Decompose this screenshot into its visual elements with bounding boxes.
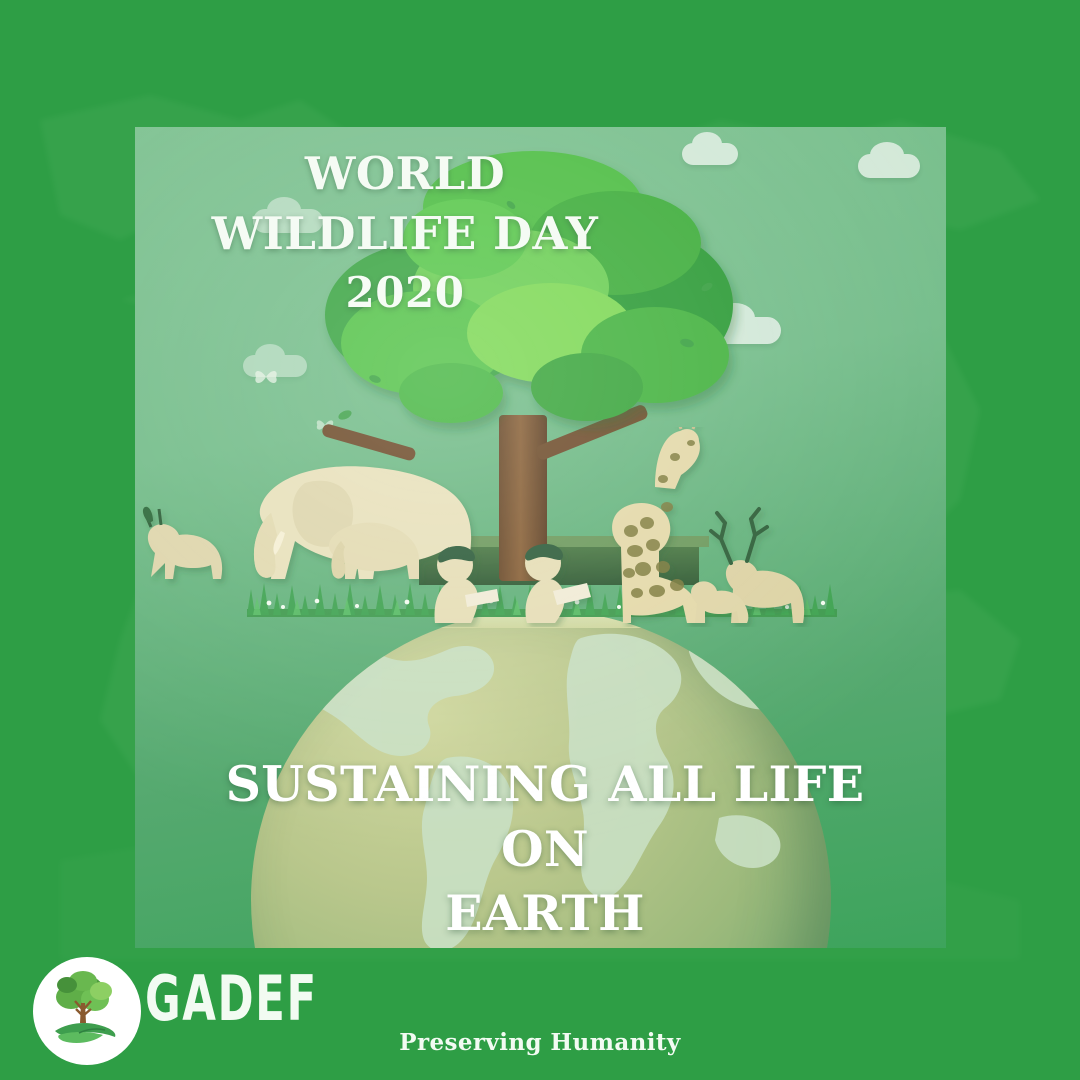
cloud-icon: [858, 154, 920, 178]
animals-layer: [135, 427, 946, 627]
poster-canvas: WORLD WILDLIFE DAY 2020 SUSTAINING ALL L…: [0, 0, 1080, 1080]
giraffe: [612, 427, 701, 623]
headline-line-1: WORLD: [155, 144, 655, 204]
headline-line-2: WILDLIFE DAY: [155, 204, 655, 264]
headline-block: WORLD WILDLIFE DAY 2020: [155, 144, 655, 321]
tagline-line-1: SUSTAINING ALL LIFE ON: [175, 752, 915, 881]
brand-wordmark: GADEF: [145, 968, 318, 1030]
antelope: [143, 507, 222, 579]
artwork-panel: WORLD WILDLIFE DAY 2020 SUSTAINING ALL L…: [135, 127, 946, 948]
headline-line-3: 2020: [155, 265, 655, 321]
child-reading-right: [525, 544, 591, 623]
butterfly-icon: [253, 367, 279, 387]
tagline-line-2: EARTH: [175, 881, 915, 946]
tagline-block: SUSTAINING ALL LIFE ON EARTH: [175, 752, 915, 946]
footer-bar: GADEF: [0, 948, 1080, 1080]
slogan-text: Preserving Humanity: [0, 1029, 1080, 1056]
child-reading-left: [435, 546, 500, 623]
